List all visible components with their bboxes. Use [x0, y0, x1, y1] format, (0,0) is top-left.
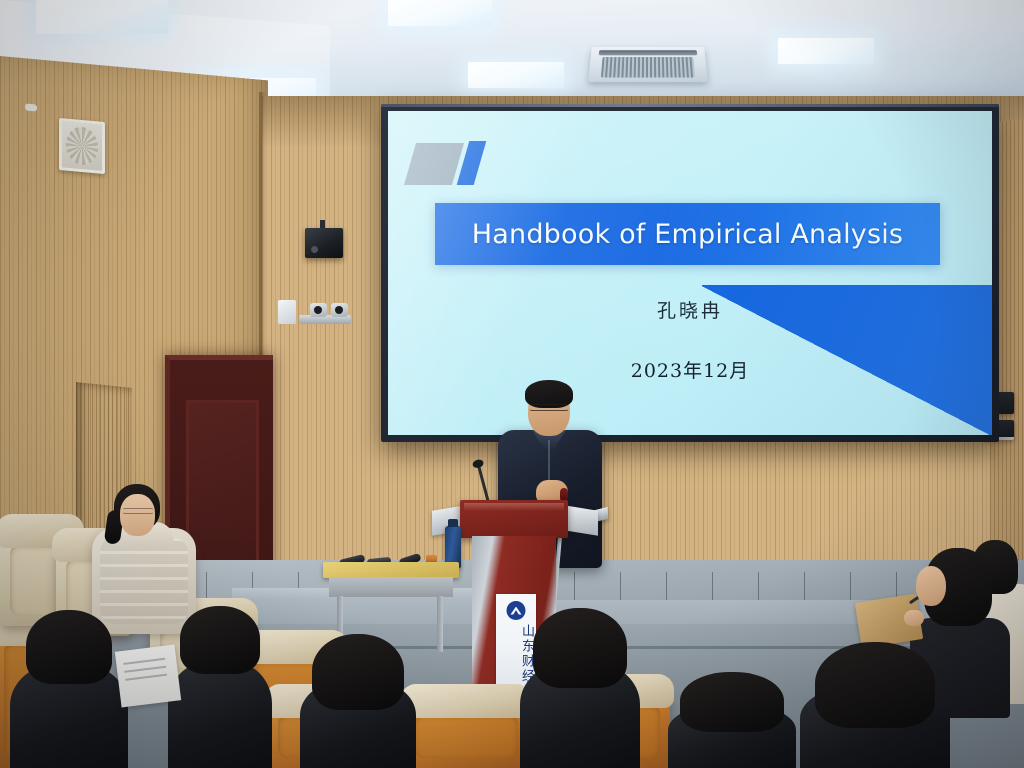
- paper-line: [123, 658, 165, 665]
- projection-screen: Handbook of Empirical Analysis 孔晓冉 2023年…: [381, 104, 999, 442]
- attendee-head: [26, 610, 112, 684]
- seated-woman-face: [120, 494, 155, 536]
- attendee-head: [815, 642, 935, 728]
- lecture-hall-photo: Handbook of Empirical Analysis 孔晓冉 2023年…: [0, 0, 1024, 768]
- slide-title-band: Handbook of Empirical Analysis: [435, 203, 940, 265]
- slide-deco-gray-shape: [404, 143, 464, 185]
- ac-slot: [599, 50, 697, 55]
- paper-line: [124, 666, 166, 673]
- smoke-sensor-icon: [25, 103, 37, 111]
- seat-headrest: [400, 684, 532, 718]
- attendee-far-right: [668, 672, 796, 768]
- seat-row1-d[interactable]: [404, 700, 528, 768]
- podium-wing-right: [564, 505, 598, 535]
- side-table-leg-right: [437, 596, 443, 652]
- side-table-top: [323, 562, 459, 578]
- ac-grille: [601, 57, 695, 78]
- ceiling-ac-unit-icon: [588, 47, 708, 82]
- camera-left-icon: [310, 303, 327, 317]
- attendee-center-right: [520, 608, 640, 768]
- paper-line: [125, 674, 167, 681]
- presentation-slide: Handbook of Empirical Analysis 孔晓冉 2023年…: [388, 111, 992, 435]
- ceiling-light-4-icon: [468, 62, 564, 88]
- attendee-front-left: [10, 610, 128, 768]
- attendee-shoulders: [168, 661, 272, 768]
- attendee-head: [180, 606, 260, 674]
- wall-speaker-icon: [305, 228, 343, 258]
- right-woman-hand: [904, 610, 924, 626]
- podium-top-surface: [460, 500, 568, 538]
- ceiling-light-3-icon: [388, 0, 492, 26]
- attendee-center: [300, 634, 416, 768]
- slide-author: 孔晓冉: [388, 296, 992, 323]
- attendee-with-paper: [168, 606, 272, 768]
- ceiling-light-1-icon: [36, 0, 168, 34]
- ceiling-light-5-icon: [778, 38, 874, 64]
- seat-cushion: [414, 714, 518, 758]
- attendee-right-edge: [800, 642, 950, 768]
- camera-right-icon: [331, 303, 348, 317]
- slide-title: Handbook of Empirical Analysis: [472, 219, 903, 250]
- side-table-apron: [329, 577, 453, 597]
- handout-paper: [115, 645, 181, 708]
- attendee-head: [680, 672, 784, 732]
- glasses-icon: [122, 508, 154, 514]
- wall-vent-grille-icon: [59, 118, 105, 174]
- wall-junction-box: [278, 300, 296, 324]
- slide-date: 2023年12月: [388, 356, 992, 383]
- glasses-icon: [529, 404, 569, 411]
- attendee-head: [312, 634, 404, 710]
- right-woman-face: [916, 566, 946, 606]
- attendee-head: [533, 608, 627, 688]
